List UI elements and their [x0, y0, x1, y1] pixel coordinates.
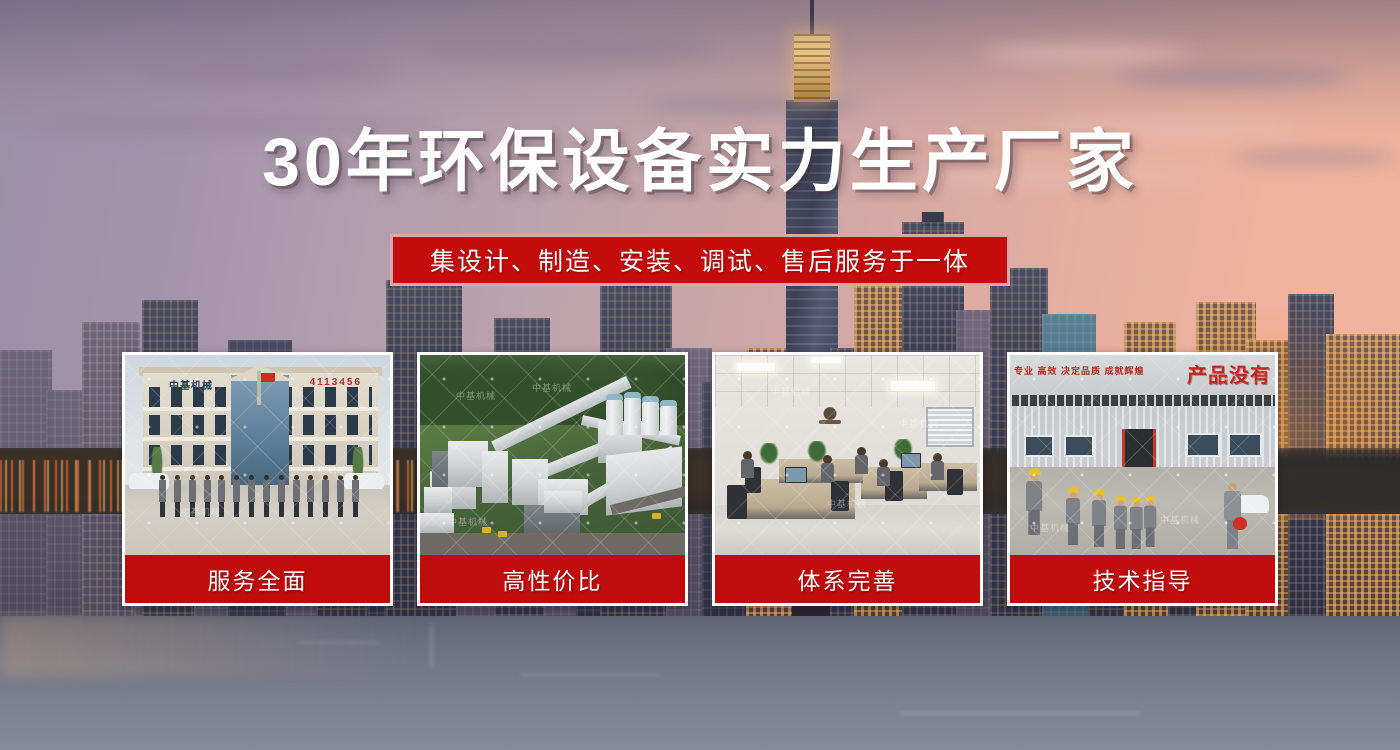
hero-headline: 30年环保设备实力生产厂家 [0, 128, 1400, 196]
card-photo-office-interior: 中基机械 中基机械 中基机械 [715, 355, 980, 555]
staff-row [159, 475, 359, 517]
feature-card-value[interactable]: 中基机械 中基机械 中基机械 高性价比 [417, 352, 688, 606]
card-caption-system: 体系完善 [715, 555, 980, 603]
wall-emblem [813, 401, 847, 429]
hero-sub-banner: 集设计、制造、安装、调试、售后服务于一体 [390, 234, 1010, 286]
card-caption-service: 服务全面 [125, 555, 390, 603]
feature-card-guidance[interactable]: 产品没有 专业 高效 决定品质 成就辉煌 [1007, 352, 1278, 606]
river-water [0, 616, 1400, 750]
building-sign-text: 中基机械 [169, 377, 213, 392]
card-photo-industrial-plant: 中基机械 中基机械 中基机械 [420, 355, 685, 555]
feature-card-row: 中基机械 4113456 [122, 352, 1278, 606]
card-photo-factory-workers: 产品没有 专业 高效 决定品质 成就辉煌 [1010, 355, 1275, 555]
water-reflection [300, 642, 380, 644]
water-reflection [900, 712, 1140, 715]
hero-banner: 30年环保设备实力生产厂家 集设计、制造、安装、调试、售后服务于一体 中基机械 [0, 0, 1400, 750]
factory-door [1122, 429, 1156, 467]
card-caption-text: 技术指导 [1093, 562, 1193, 596]
factory-slogan-text: 产品没有 [1187, 359, 1271, 388]
water-reflection [430, 624, 433, 668]
feature-card-system[interactable]: 中基机械 中基机械 中基机械 体系完善 [712, 352, 983, 606]
card-caption-text: 服务全面 [208, 562, 308, 596]
building-phone-text: 4113456 [310, 377, 362, 388]
building [46, 390, 86, 640]
card-caption-text: 高性价比 [503, 562, 603, 596]
hero-sub-banner-text: 集设计、制造、安装、调试、售后服务于一体 [430, 242, 970, 278]
factory-slogan-small-text: 专业 高效 决定品质 成就辉煌 [1014, 365, 1145, 377]
card-caption-text: 体系完善 [798, 562, 898, 596]
card-caption-guidance: 技术指导 [1010, 555, 1275, 603]
feature-card-service[interactable]: 中基机械 4113456 [122, 352, 393, 606]
water-reflection [520, 674, 660, 676]
supervisor-figure [1224, 483, 1241, 549]
card-photo-company-building: 中基机械 4113456 [125, 355, 390, 555]
window-blinds [926, 407, 974, 447]
card-caption-value: 高性价比 [420, 555, 685, 603]
red-helmet [1233, 517, 1247, 530]
